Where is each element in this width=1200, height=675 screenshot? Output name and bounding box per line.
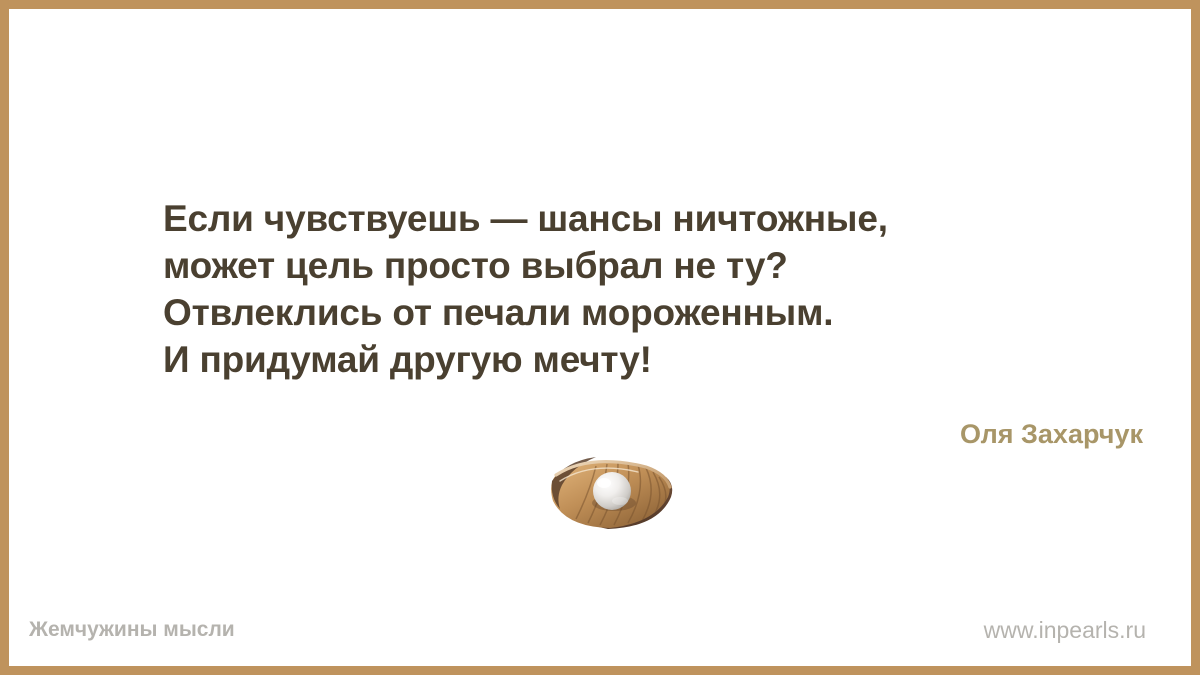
quote-line-2: может цель просто выбрал не ту? <box>163 242 1063 289</box>
quote-line-1: Если чувствуешь — шансы ничтожные, <box>163 195 1063 242</box>
quote-card: Если чувствуешь — шансы ничтожные, может… <box>0 0 1200 675</box>
quote-line-3: Отвлеклись от печали мороженным. <box>163 289 1063 336</box>
quote-line-4: И придумай другую мечту! <box>163 336 1063 383</box>
footer-site-url[interactable]: www.inpearls.ru <box>984 617 1146 644</box>
quote-block: Если чувствуешь — шансы ничтожные, может… <box>163 195 1063 383</box>
seashell-with-pearl-icon <box>542 451 682 531</box>
quote-author: Оля Захарчук <box>960 419 1143 450</box>
footer-site-name: Жемчужины мысли <box>29 618 235 642</box>
